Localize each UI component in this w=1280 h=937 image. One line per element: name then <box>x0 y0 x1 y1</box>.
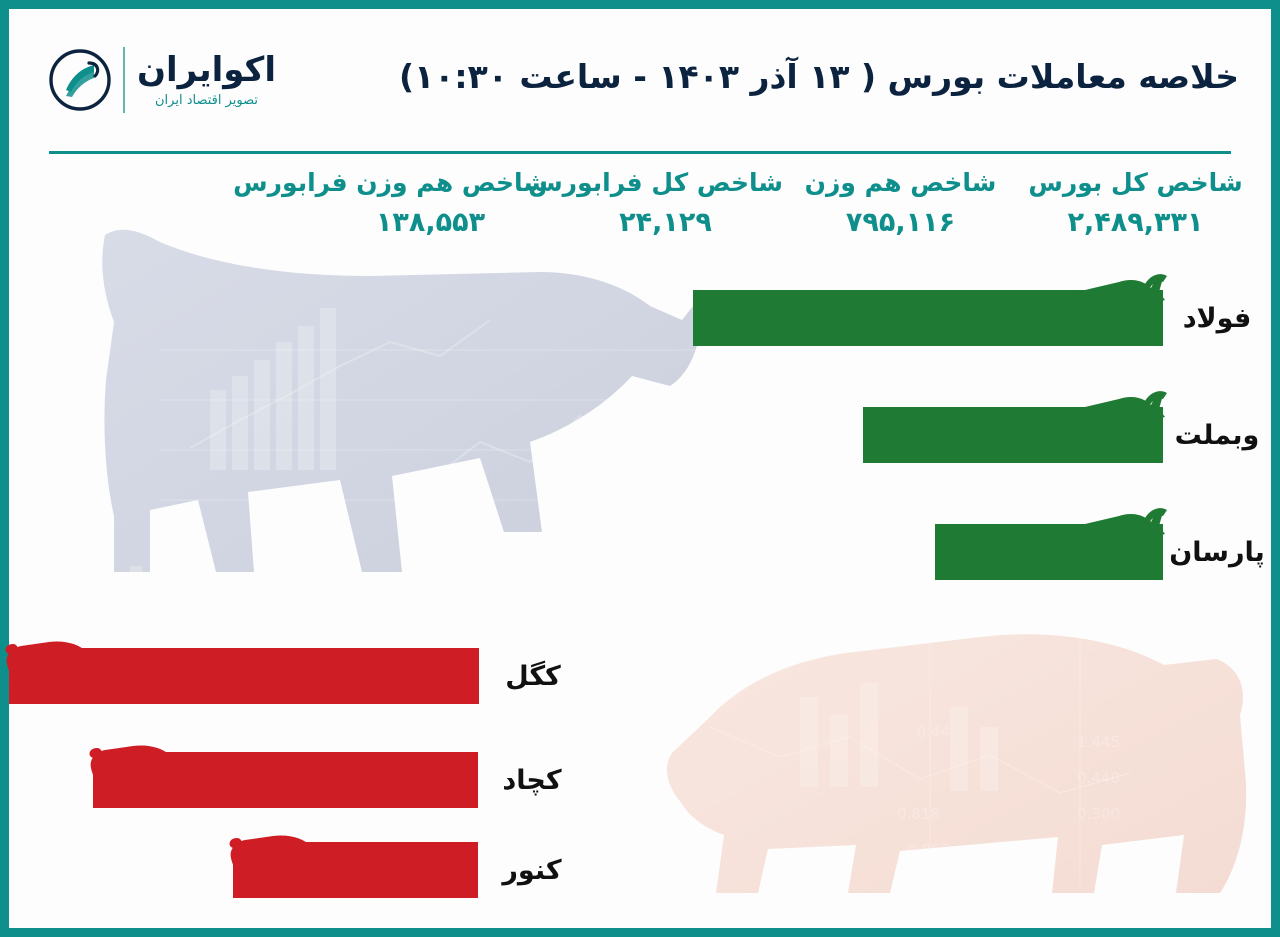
index-value: ۱۳۸,۵۵۳ <box>313 207 548 238</box>
bar-label: کگل <box>479 661 587 692</box>
bear-icon <box>227 824 323 898</box>
bar-row-loss-1: کگل <box>9 643 587 709</box>
bar-label: پارسان <box>1163 537 1271 568</box>
bear-icon <box>87 734 183 808</box>
index-value: ۷۹۵,۱۱۶ <box>783 207 1018 238</box>
frame-border-right <box>1271 0 1280 937</box>
bar-label: وبملت <box>1163 420 1271 451</box>
index-label: شاخص کل بورس <box>1018 168 1253 197</box>
index-card-equal-weight: شاخص هم وزن ۷۹۵,۱۱۶ <box>783 168 1018 238</box>
impact-bar-chart: فولاد وبملت <box>9 285 1271 917</box>
bar-gain[interactable] <box>863 407 1163 463</box>
infographic-page: خلاصه معاملات بورس ( ۱۳ آذر ۱۴۰۳ - ساعت … <box>0 0 1280 937</box>
index-label: شاخص کل فرابورس <box>548 168 783 197</box>
bull-icon <box>1059 256 1169 348</box>
index-label: شاخص هم وزن <box>783 168 1018 197</box>
page-title: خلاصه معاملات بورس ( ۱۳ آذر ۱۴۰۳ - ساعت … <box>399 57 1239 96</box>
bar-gain[interactable] <box>693 290 1163 346</box>
bar-label: کنور <box>478 855 586 886</box>
bar-gain[interactable] <box>935 524 1163 580</box>
bar-loss[interactable] <box>93 752 478 808</box>
brand-name: اکوایران <box>137 53 276 87</box>
bar-label: فولاد <box>1163 303 1271 334</box>
index-summary-row: شاخص کل بورس ۲,۴۸۹,۳۳۱ شاخص هم وزن ۷۹۵,۱… <box>9 168 1271 238</box>
index-value: ۲۴,۱۲۹ <box>548 207 783 238</box>
bull-icon <box>1059 373 1169 465</box>
bar-loss[interactable] <box>9 648 479 704</box>
frame-border-left <box>0 0 9 937</box>
index-label: شاخص هم وزن فرابورس <box>313 168 548 197</box>
index-card-total-farabourse: شاخص کل فرابورس ۲۴,۱۲۹ <box>548 168 783 238</box>
bar-loss[interactable] <box>233 842 478 898</box>
index-card-total-bourse: شاخص کل بورس ۲,۴۸۹,۳۳۱ <box>1018 168 1253 238</box>
bar-row-gain-3: پارسان <box>935 519 1271 585</box>
header: خلاصه معاملات بورس ( ۱۳ آذر ۱۴۰۳ - ساعت … <box>9 9 1271 149</box>
brand-logo[interactable]: اکوایران تصویر اقتصاد ایران <box>49 47 276 113</box>
bull-icon <box>1059 490 1169 582</box>
eco-iran-logo-mark-icon <box>49 49 111 111</box>
bear-icon <box>3 630 99 704</box>
bar-row-loss-2: کچاد <box>93 747 586 813</box>
logo-divider <box>123 47 125 113</box>
bar-row-gain-1: فولاد <box>693 285 1271 351</box>
bar-row-gain-2: وبملت <box>863 402 1271 468</box>
frame-border-top <box>0 0 1280 9</box>
brand-tagline: تصویر اقتصاد ایران <box>155 94 258 107</box>
frame-border-bottom <box>0 928 1280 937</box>
bar-row-loss-3: کنور <box>233 837 586 903</box>
brand-text: اکوایران تصویر اقتصاد ایران <box>137 53 276 107</box>
index-value: ۲,۴۸۹,۳۳۱ <box>1018 207 1253 238</box>
index-card-equal-weight-farabourse: شاخص هم وزن فرابورس ۱۳۸,۵۵۳ <box>313 168 548 238</box>
header-divider <box>49 151 1231 154</box>
bar-label: کچاد <box>478 765 586 796</box>
